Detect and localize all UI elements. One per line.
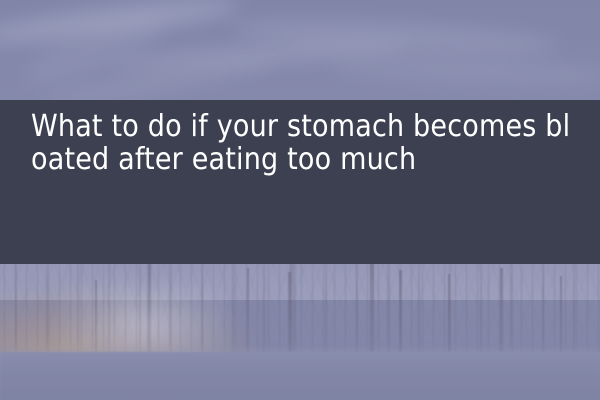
headline-text: What to do if your stomach becomes bloat…: [31, 110, 579, 176]
screenshot-canvas: What to do if your stomach becomes bloat…: [0, 0, 600, 400]
snow-foreground: [0, 352, 600, 400]
caption-band: What to do if your stomach becomes bloat…: [0, 100, 600, 264]
